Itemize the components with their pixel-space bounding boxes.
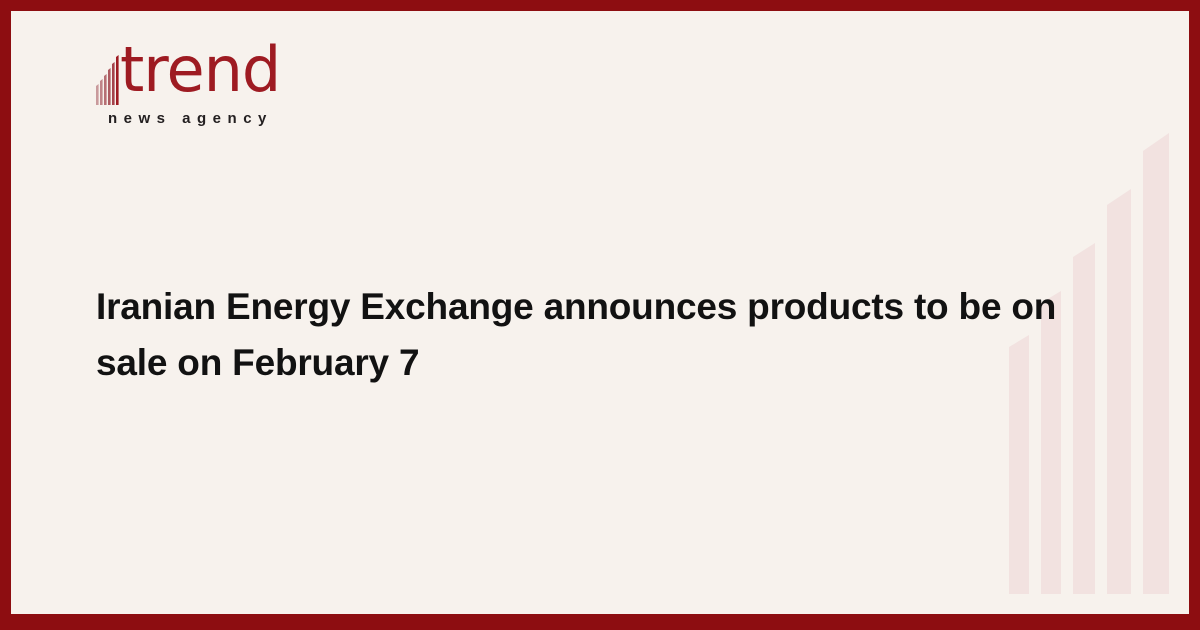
headline-title: Iranian Energy Exchange announces produc… (96, 279, 1081, 391)
brand-logo[interactable]: trend news agency (96, 45, 356, 145)
social-share-card: trend news agency Iranian Energy Exchang… (0, 0, 1200, 630)
logo-wordmark: trend (120, 39, 280, 101)
logo-tagline: news agency (108, 111, 273, 126)
card-canvas: trend news agency Iranian Energy Exchang… (11, 11, 1189, 614)
